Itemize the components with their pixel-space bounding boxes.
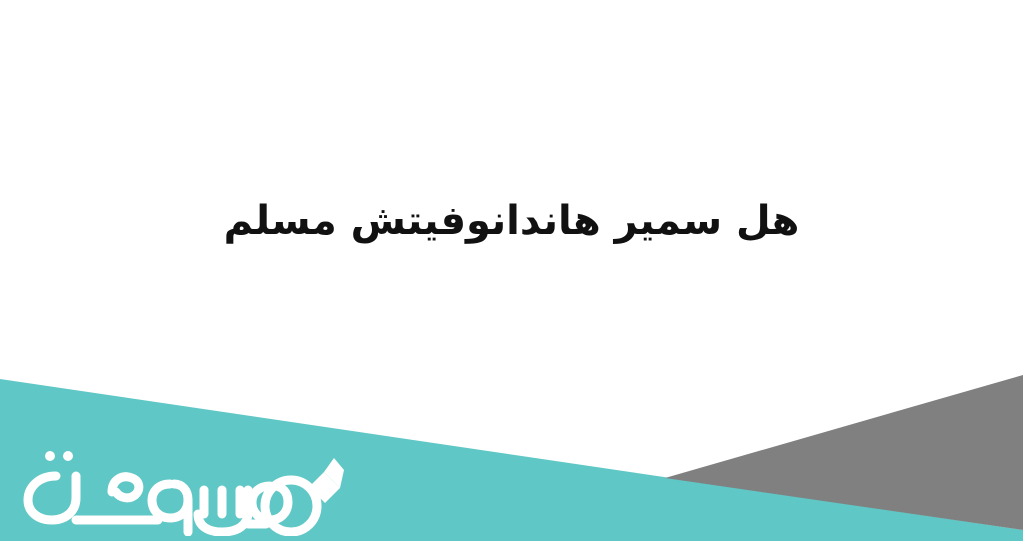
logo-dot-left bbox=[45, 451, 55, 461]
brand-logo[interactable]: موسوعة bbox=[8, 432, 348, 536]
logo-dot-right bbox=[63, 451, 73, 461]
image-canvas: هل سمير هاندانوفيتش مسلم موسوعة bbox=[0, 0, 1023, 541]
brand-logo-artwork bbox=[8, 432, 348, 536]
logo-letter-ta-marbuta bbox=[28, 476, 76, 520]
logo-letter-waw-1 bbox=[152, 484, 188, 518]
logo-letter-ain bbox=[112, 477, 139, 498]
